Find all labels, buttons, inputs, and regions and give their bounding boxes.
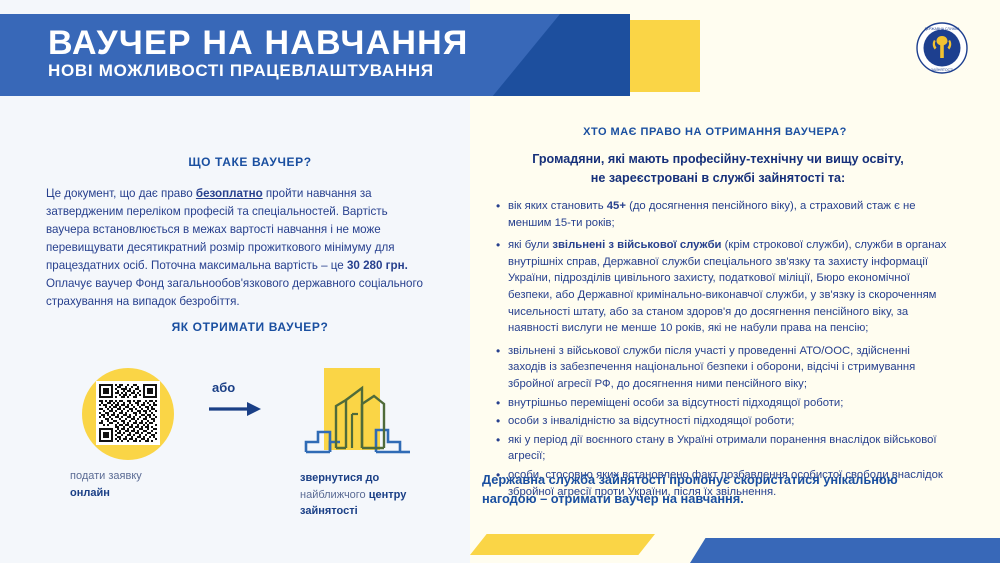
- caption-visit-employment-centre: звернутися до найближчого центру зайнято…: [300, 470, 450, 520]
- caption-centre-line1: звернутися до: [300, 472, 379, 484]
- section-heading-how-to-get-voucher: ЯК ОТРИМАТИ ВАУЧЕР?: [40, 320, 460, 334]
- svg-text:ДЕРЖАВНА СЛУЖБА: ДЕРЖАВНА СЛУЖБА: [924, 27, 960, 31]
- caption-centre-line2a: найближчого: [300, 489, 369, 501]
- eligibility-bullet-item: які у період дії воєнного стану в Україн…: [498, 432, 948, 465]
- bullet-text-post: (крім строкової служби), служби в органа…: [508, 239, 946, 334]
- arrow-right-icon: [207, 398, 265, 420]
- caption-centre-line2b: центру: [369, 489, 407, 501]
- bullet-text-pre: внутрішньо переміщені особи за відсутнос…: [508, 397, 843, 409]
- bullet-text-emphasis: звільнені з військової служби: [552, 239, 721, 251]
- what-is-voucher-text: Це документ, що дає право безоплатно про…: [46, 185, 428, 311]
- caption-online-line1: подати заявку: [70, 470, 142, 482]
- bullet-text-pre: звільнені з військової служби після учас…: [508, 345, 915, 390]
- section-heading-what-is-voucher: ЩО ТАКЕ ВАУЧЕР?: [40, 155, 460, 169]
- state-employment-service-emblem-icon: ДЕРЖАВНА СЛУЖБА ЗАЙНЯТОСТІ: [916, 22, 968, 74]
- svg-text:ЗАЙНЯТОСТІ: ЗАЙНЯТОСТІ: [931, 68, 953, 72]
- qr-code-icon[interactable]: [96, 381, 160, 445]
- page-subtitle: НОВІ МОЖЛИВОСТІ ПРАЦЕВЛАШТУВАННЯ: [48, 62, 434, 79]
- eligibility-bullet-item: звільнені з військової служби після учас…: [498, 343, 948, 393]
- eligibility-bullet-item: внутрішньо переміщені особи за відсутнос…: [498, 395, 948, 412]
- what-text-highlight: безоплатно: [196, 187, 263, 200]
- closing-call-to-action: Державна служба зайнятості пропонує скор…: [482, 470, 934, 508]
- bullet-text-emphasis: 45+: [607, 200, 626, 212]
- eligibility-lead-text: Громадяни, які мають професійну-технічну…: [528, 150, 908, 188]
- footer-yellow-band: [470, 534, 655, 555]
- what-text-part3: Оплачує ваучер Фонд загальнообов'язковог…: [46, 277, 423, 308]
- caption-online-line2: онлайн: [70, 487, 110, 499]
- footer-blue-band: [690, 538, 1000, 563]
- bullet-text-pre: вік яких становить: [508, 200, 607, 212]
- page-title: ВАУЧЕР НА НАВЧАННЯ: [48, 26, 468, 60]
- what-text-part1: Це документ, що дає право: [46, 187, 196, 200]
- eligibility-bullet-list: вік яких становить 45+ (до досягнення пе…: [482, 198, 948, 502]
- bullet-text-pre: які у період дії воєнного стану в Україн…: [508, 434, 937, 463]
- bullet-text-pre: особи з інвалідністю за відсутності підх…: [508, 415, 794, 427]
- employment-centre-building-icon[interactable]: [300, 368, 416, 470]
- caption-centre-line3: зайнятості: [300, 505, 358, 517]
- section-heading-who-is-eligible: ХТО МАЄ ПРАВО НА ОТРИМАННЯ ВАУЧЕРА?: [490, 126, 940, 138]
- bullet-text-pre: які були: [508, 239, 552, 251]
- caption-apply-online: подати заявку онлайн: [70, 468, 220, 501]
- eligibility-bullet-item: особи з інвалідністю за відсутності підх…: [498, 413, 948, 430]
- infographic-page: ВАУЧЕР НА НАВЧАННЯ НОВІ МОЖЛИВОСТІ ПРАЦЕ…: [0, 0, 1000, 563]
- what-text-amount: 30 280 грн.: [347, 259, 408, 272]
- or-label: або: [212, 380, 235, 395]
- eligibility-bullet-item: які були звільнені з військової служби (…: [498, 237, 948, 337]
- eligibility-bullet-item: вік яких становить 45+ (до досягнення пе…: [498, 198, 948, 231]
